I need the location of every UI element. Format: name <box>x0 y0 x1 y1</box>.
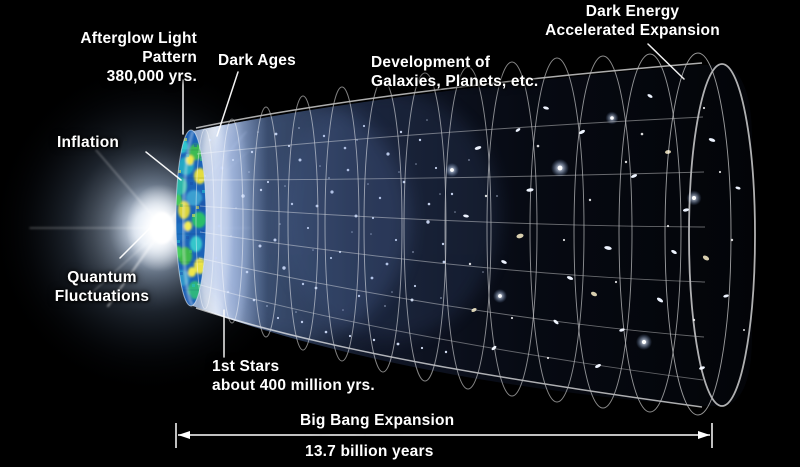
universe-timeline-figure: Afterglow Light Pattern 380,000 yrs. Inf… <box>0 0 800 467</box>
timeline-illustration <box>0 0 800 467</box>
